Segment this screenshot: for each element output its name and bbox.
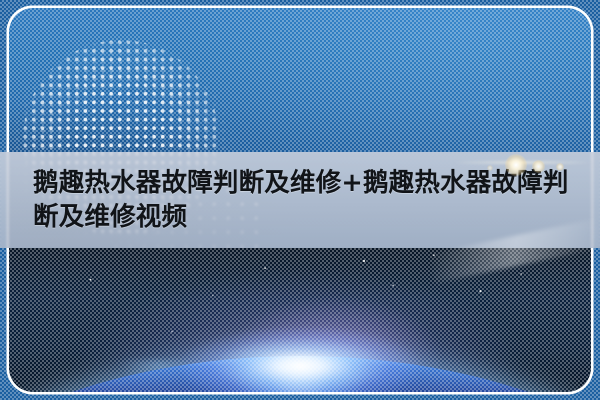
title-container: 鹅趣热水器故障判断及维修+鹅趣热水器故障判断及维修视频 [0,166,600,234]
image-banner: 鹅趣热水器故障判断及维修+鹅趣热水器故障判断及维修视频 蓝色科技背景图片，上方为… [0,0,600,400]
light-burst-core [120,291,480,392]
page-title: 鹅趣热水器故障判断及维修+鹅趣热水器故障判断及维修视频 [33,166,573,234]
title-overlay-band: 鹅趣热水器故障判断及维修+鹅趣热水器故障判断及维修视频 [0,152,600,248]
space-scene [9,248,591,392]
